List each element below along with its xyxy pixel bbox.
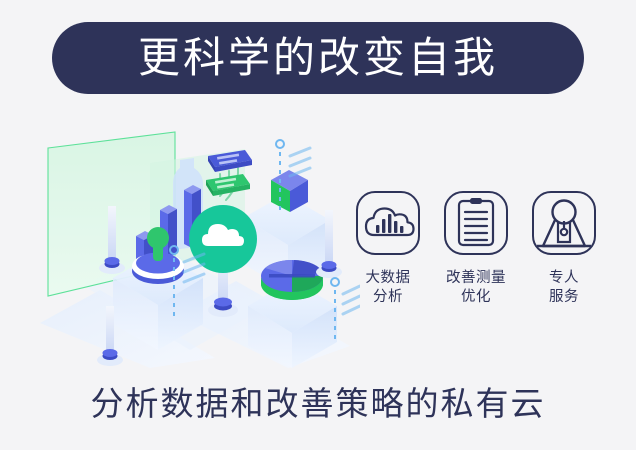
feature-label-line1: 大数据 xyxy=(366,269,411,288)
page-title: 更科学的改变自我 xyxy=(138,37,498,79)
feature-label-line1: 改善测量 xyxy=(446,269,506,288)
feature-label: 专人 服务 xyxy=(549,269,579,307)
header-banner: 更科学的改变自我 xyxy=(52,22,584,94)
tag-blue xyxy=(208,150,252,172)
feature-label-line2: 分析 xyxy=(366,288,411,307)
support-person-icon xyxy=(531,190,597,256)
pie-chart xyxy=(261,260,323,300)
feature-item-big-data-analysis[interactable]: 大数据 分析 xyxy=(352,190,424,307)
feature-item-measurement-optimization[interactable]: 改善测量 优化 xyxy=(440,190,512,307)
feature-item-dedicated-service[interactable]: 专人 服务 xyxy=(528,190,600,307)
isometric-illustration xyxy=(40,118,360,368)
feature-label-line2: 服务 xyxy=(549,288,579,307)
feature-label-line1: 专人 xyxy=(549,269,579,288)
clipboard-icon xyxy=(443,190,509,256)
feature-list: 大数据 分析 xyxy=(352,190,600,307)
footer-tagline: 分析数据和改善策略的私有云 xyxy=(0,384,636,424)
feature-label: 改善测量 优化 xyxy=(446,269,506,307)
poster-root: 更科学的改变自我 xyxy=(0,0,636,450)
feature-label: 大数据 分析 xyxy=(366,269,411,307)
cloud-chart-icon xyxy=(355,190,421,256)
feature-label-line2: 优化 xyxy=(446,288,506,307)
